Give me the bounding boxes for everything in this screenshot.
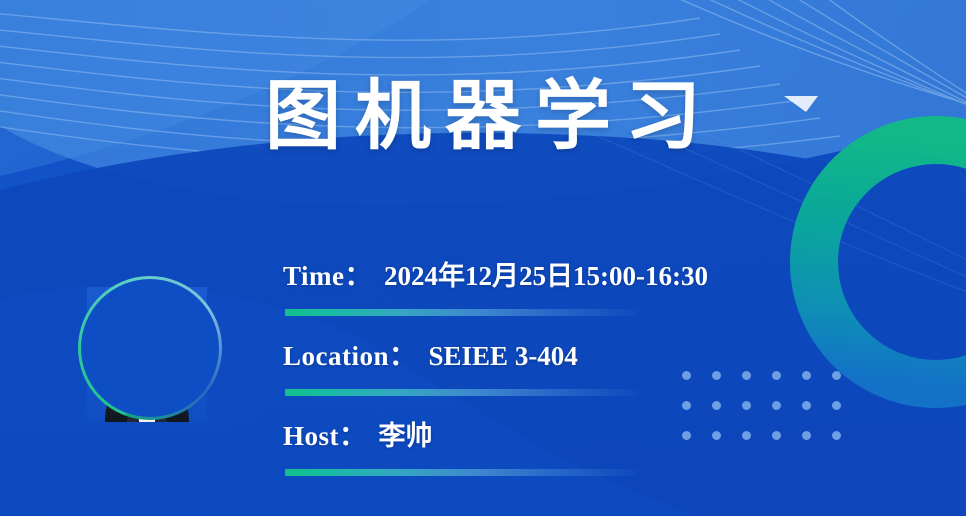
time-value: 2024年12月25日15:00-16:30: [384, 261, 708, 291]
location-label: Location：: [283, 341, 417, 371]
info-row-time: Time：2024年12月25日15:00-16:30: [283, 262, 703, 342]
dot-grid-decoration: [682, 371, 872, 449]
info-row-location: Location：SEIEE 3-404: [283, 342, 703, 422]
info-row-host: Host：李帅: [283, 422, 703, 492]
divider-rule: [285, 389, 637, 396]
avatar-ring: [78, 276, 222, 420]
poster-canvas: 图机器学习 Time：2024年12月25日15:00-16:30 Locati…: [0, 0, 966, 516]
divider-rule: [285, 469, 637, 476]
speaker-card: 魏哲巍 中国人民大学: [60, 262, 236, 422]
event-info-block: Time：2024年12月25日15:00-16:30 Location：SEI…: [283, 262, 703, 492]
host-label: Host：: [283, 421, 367, 451]
page-title: 图机器学习: [0, 78, 966, 154]
time-label: Time：: [283, 261, 372, 291]
location-value: SEIEE 3-404: [429, 341, 578, 371]
avatar: [73, 270, 223, 422]
host-value: 李帅: [379, 421, 433, 451]
divider-rule: [285, 309, 637, 316]
